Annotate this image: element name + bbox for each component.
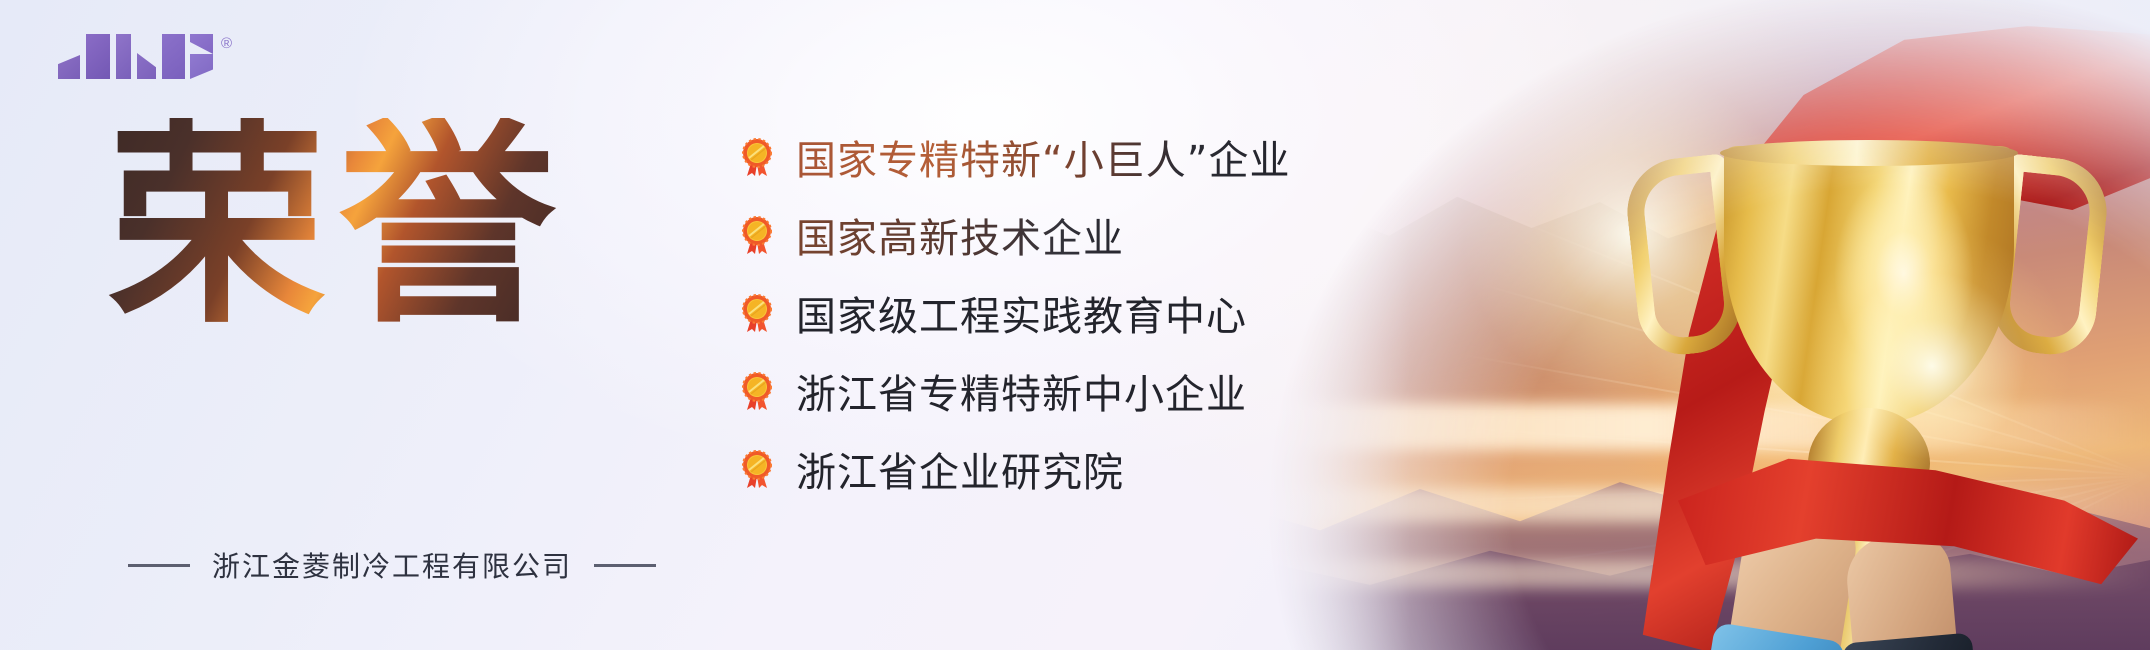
- honor-label: 浙江省企业研究院: [796, 440, 1124, 498]
- hand-right: [1844, 532, 1961, 650]
- honor-label: 浙江省专精特新中小企业: [796, 362, 1247, 420]
- banner-photo-collage: [1150, 0, 2150, 650]
- honor-item: 浙江省专精特新中小企业: [740, 352, 1290, 430]
- logo-block-6: [190, 54, 213, 79]
- honor-item: 浙江省企业研究院: [740, 430, 1290, 508]
- logo-block-2: [86, 34, 110, 79]
- logo-block-3: [116, 34, 131, 79]
- company-logo[interactable]: ®: [58, 34, 232, 79]
- trophy-rim: [1720, 140, 2018, 166]
- award-medal-icon: [740, 293, 774, 333]
- honor-list: 国家专精特新“小巨人”企业 国家高新技术企业: [740, 118, 1290, 508]
- honor-item: 国家高新技术企业: [740, 196, 1290, 274]
- award-medal-icon: [740, 449, 774, 489]
- award-medal-icon: [740, 137, 774, 177]
- golden-trophy: [1632, 36, 2102, 650]
- honor-item: 国家专精特新“小巨人”企业: [740, 118, 1290, 196]
- divider-dash-right: [594, 564, 656, 567]
- company-name-line: 浙江金菱制冷工程有限公司: [128, 545, 656, 585]
- logo-block-4: [137, 53, 156, 79]
- page-title: 荣誉: [108, 118, 568, 336]
- honor-banner: ® 荣誉 浙江金菱制冷工程有限公司 国家专精特新“小巨人: [0, 0, 2150, 650]
- honor-label: 国家级工程实践教育中心: [796, 284, 1247, 342]
- award-medal-icon: [740, 371, 774, 411]
- honor-label: 国家高新技术企业: [796, 206, 1124, 264]
- honor-item: 国家级工程实践教育中心: [740, 274, 1290, 352]
- logo-block-5: [162, 34, 185, 79]
- company-name: 浙江金菱制冷工程有限公司: [212, 545, 572, 585]
- registered-trademark-icon: ®: [221, 36, 232, 51]
- award-medal-icon: [740, 215, 774, 255]
- logo-block-1: [58, 55, 80, 79]
- logo-block-7: [190, 34, 213, 54]
- honor-label: 国家专精特新“小巨人”企业: [796, 128, 1290, 186]
- divider-dash-left: [128, 564, 190, 567]
- jinling-logo-mark: [58, 34, 213, 79]
